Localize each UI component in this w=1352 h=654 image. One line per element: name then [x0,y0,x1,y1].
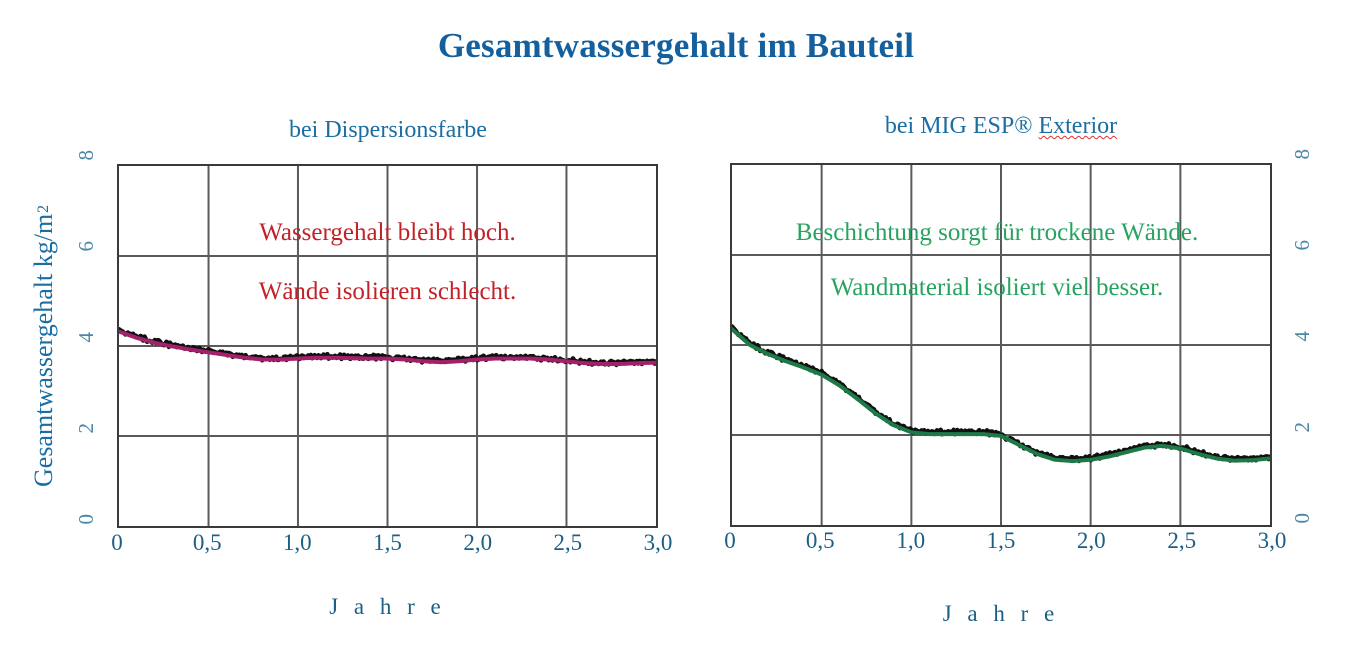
annotation-left-1: Wassergehalt bleibt hoch. [117,219,658,247]
y-tick-label: 0 [1292,513,1313,524]
x-tick-label: 0 [690,528,770,554]
y-axis-title-left: Gesamtwassergehalt kg/m2 [24,168,64,524]
panel-title-right: bei MIG ESP® Exterior [730,113,1272,140]
x-tick-label: 1,0 [257,530,337,556]
x-tick-label: 2,0 [438,530,518,556]
panel-title-right-text: bei MIG ESP® [885,113,1039,139]
slide-root: Gesamtwassergehalt im Bauteil bei Disper… [0,0,1352,654]
x-tick-label: 0,5 [780,528,860,554]
y-tick-label: 6 [76,241,97,252]
y-tick-label: 2 [76,423,97,434]
annotation-right-1: Beschichtung sorgt für trockene Wände. [726,219,1268,247]
y-axis-title-exponent: 2 [35,205,53,213]
panel-title-left-text: bei Dispersionsfarbe [289,117,487,143]
x-tick-label: 2,5 [1142,528,1222,554]
x-tick-label: 2,0 [1051,528,1131,554]
y-tick-label: 4 [1292,331,1313,342]
x-tick-label: 1,5 [961,528,1041,554]
x-tick-label: 2,5 [528,530,608,556]
x-tick-label: 1,0 [871,528,951,554]
y-tick-label: 8 [76,150,97,161]
x-axis-title-left: J a h r e [117,594,658,620]
y-tick-label: 4 [76,332,97,343]
x-axis-title-right: J a h r e [730,601,1272,627]
x-tick-label: 3,0 [1232,528,1312,554]
chart-right [730,163,1272,527]
x-tick-label: 1,5 [348,530,428,556]
x-tick-label: 0 [77,530,157,556]
page-title: Gesamtwassergehalt im Bauteil [0,26,1352,66]
y-axis-title-text: Gesamtwassergehalt kg/m [29,213,59,486]
x-tick-label: 0,5 [167,530,247,556]
x-tick-label: 3,0 [618,530,698,556]
annotation-right-2: Wandmaterial isoliert viel besser. [726,274,1268,302]
y-tick-label: 8 [1292,149,1313,160]
y-tick-label: 6 [1292,240,1313,251]
annotation-left-2: Wände isolieren schlecht. [117,278,658,306]
panel-title-left: bei Dispersionsfarbe [118,117,658,144]
y-tick-label: 2 [1292,422,1313,433]
y-tick-label: 0 [76,514,97,525]
panel-title-right-misspelled: Exterior [1038,113,1117,139]
